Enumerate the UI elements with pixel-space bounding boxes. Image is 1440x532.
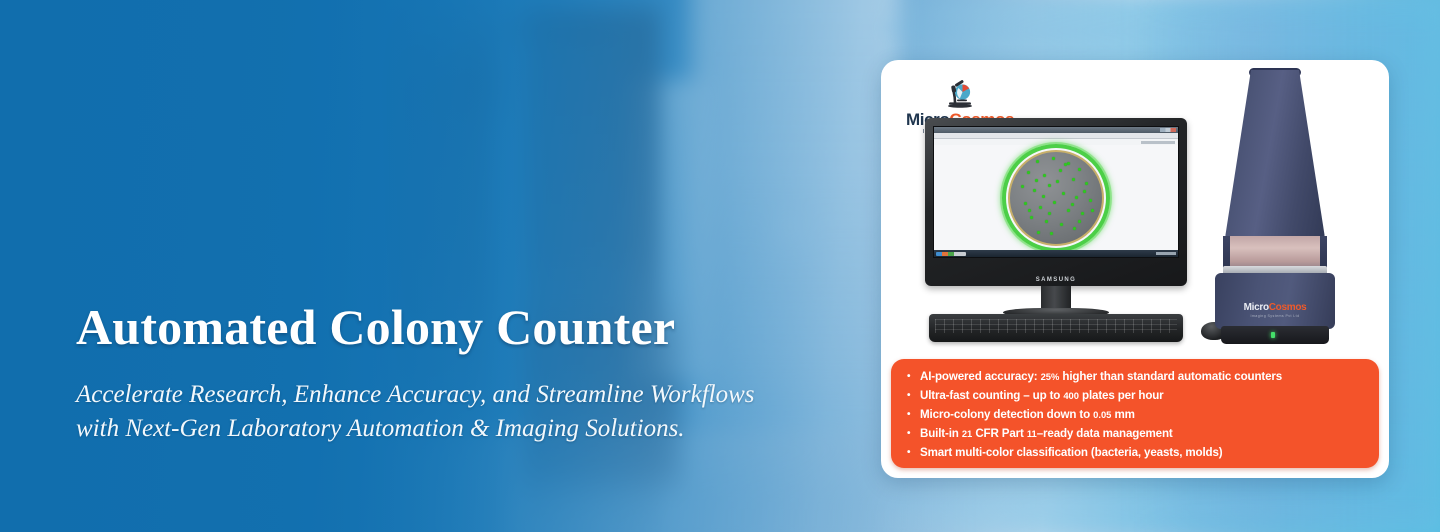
list-item: • Micro-colony detection down to 0.05 mm <box>907 405 1365 424</box>
list-item: • AI-powered accuracy: 25% higher than s… <box>907 367 1365 386</box>
feature-tail: higher than standard automatic counters <box>1062 370 1282 383</box>
page-title: Automated Colony Counter <box>76 300 836 354</box>
feature-number-2: 11 <box>1027 428 1037 439</box>
power-led-icon <box>1271 332 1275 338</box>
colony-counter-device: MicroCosmos Imaging Systems Pvt Ltd <box>1199 70 1351 352</box>
feature-number: 21 <box>962 428 972 439</box>
list-item: • Ultra-fast counting – up to 400 plates… <box>907 386 1365 405</box>
feature-number: 25% <box>1041 371 1060 382</box>
monitor: SAMSUNG <box>925 118 1187 286</box>
device-brand-tagline: Imaging Systems Pvt Ltd <box>1215 314 1335 318</box>
feature-mid: CFR Part <box>975 427 1023 440</box>
feature-text: Micro-colony detection down to 0.05 mm <box>920 405 1365 424</box>
hero-copy: Automated Colony Counter Accelerate Rese… <box>76 300 836 445</box>
bullet-icon: • <box>907 424 920 443</box>
hero-banner: Automated Colony Counter Accelerate Rese… <box>0 0 1440 532</box>
feature-text: Built-in 21 CFR Part 11–ready data manag… <box>920 424 1365 443</box>
plate-viewport <box>934 145 1178 250</box>
feature-lead: AI-powered accuracy: <box>920 370 1038 383</box>
feature-lead: Built-in <box>920 427 959 440</box>
feature-tail: mm <box>1114 408 1134 421</box>
hero-subtitle: Accelerate Research, Enhance Accuracy, a… <box>76 378 836 445</box>
feature-lead: Ultra-fast counting – up to <box>920 389 1060 402</box>
petri-dish <box>1002 144 1110 252</box>
keyboard <box>929 314 1183 342</box>
device-brand-name: MicroCosmos <box>1215 303 1335 313</box>
feature-text: Smart multi-color classification (bacter… <box>920 443 1365 462</box>
device-base: MicroCosmos Imaging Systems Pvt Ltd <box>1215 273 1335 329</box>
feature-lead: Micro-colony detection down to <box>920 408 1090 421</box>
product-card: MicroCosmos Imaging Systems Pvt Ltd <box>881 60 1389 478</box>
bullet-icon: • <box>907 367 920 386</box>
software-taskbar <box>934 250 1178 257</box>
background-left-vignette <box>0 0 520 532</box>
feature-list: • AI-powered accuracy: 25% higher than s… <box>891 359 1379 468</box>
device-imaging-chamber <box>1223 236 1327 270</box>
hero-subtitle-line-2: with Next-Gen Laboratory Automation & Im… <box>76 412 836 446</box>
hero-subtitle-line-1: Accelerate Research, Enhance Accuracy, a… <box>76 378 836 412</box>
monitor-screen <box>933 126 1179 258</box>
microscope-icon <box>901 72 1019 110</box>
monitor-stand-neck <box>1041 286 1071 310</box>
feature-text: AI-powered accuracy: 25% higher than sta… <box>920 367 1365 386</box>
monitor-brand-label: SAMSUNG <box>925 277 1187 283</box>
bullet-icon: • <box>907 405 920 424</box>
device-brand-cosmos: Cosmos <box>1269 302 1307 313</box>
device-foot <box>1221 326 1329 344</box>
device-brand-micro: Micro <box>1244 302 1269 313</box>
feature-text: Ultra-fast counting – up to 400 plates p… <box>920 386 1365 405</box>
bullet-icon: • <box>907 443 920 462</box>
agar-plate <box>1008 150 1104 246</box>
software-title-bar <box>934 127 1178 133</box>
list-item: • Built-in 21 CFR Part 11–ready data man… <box>907 424 1365 443</box>
feature-tail: plates per hour <box>1082 389 1164 402</box>
list-item: • Smart multi-color classification (bact… <box>907 443 1365 462</box>
feature-tail: –ready data management <box>1037 427 1173 440</box>
workstation-image: SAMSUNG <box>925 118 1187 350</box>
bullet-icon: • <box>907 386 920 405</box>
feature-number: 0.05 <box>1093 409 1111 420</box>
feature-number: 400 <box>1063 390 1079 401</box>
device-hood <box>1225 70 1325 238</box>
